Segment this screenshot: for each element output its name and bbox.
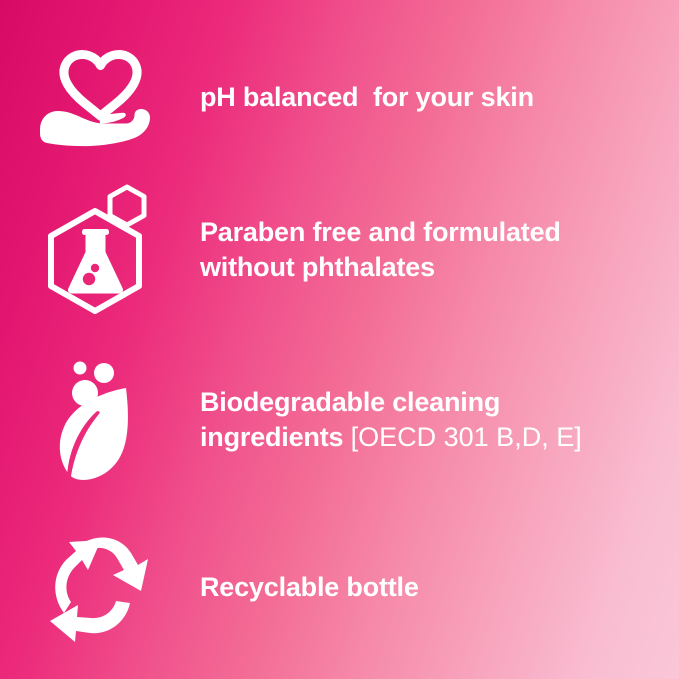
recycle-icon	[38, 529, 162, 647]
icon-cell-biodegradable	[0, 355, 200, 485]
feature-note-oecd: [OECD 301 B,D, E]	[351, 422, 582, 452]
feature-row-paraben-free: Paraben free and formulated without phth…	[0, 182, 679, 317]
text-cell-recyclable-bottle: Recyclable bottle	[200, 570, 679, 605]
feature-label-biodegradable: Biodegradable cleaning ingredients [OECD…	[200, 385, 659, 454]
flask-hexagon-icon	[38, 180, 162, 320]
text-cell-ph-balanced: pH balanced for your skin	[200, 80, 679, 115]
leaf-bubbles-icon	[38, 355, 162, 485]
icon-cell-recyclable-bottle	[0, 529, 200, 647]
product-benefits-infographic: pH balanced for your skin	[0, 0, 679, 679]
text-cell-paraben-free: Paraben free and formulated without phth…	[200, 215, 679, 284]
feature-label-paraben-free: Paraben free and formulated without phth…	[200, 215, 659, 284]
feature-label-ph-balanced: pH balanced for your skin	[200, 80, 659, 115]
feature-row-biodegradable: Biodegradable cleaning ingredients [OECD…	[0, 352, 679, 487]
text-cell-biodegradable: Biodegradable cleaning ingredients [OECD…	[200, 385, 679, 454]
icon-cell-paraben-free	[0, 180, 200, 320]
feature-row-recyclable-bottle: Recyclable bottle	[0, 525, 679, 650]
icon-cell-ph-balanced	[0, 45, 200, 149]
feature-row-ph-balanced: pH balanced for your skin	[0, 42, 679, 152]
feature-label-recyclable-bottle: Recyclable bottle	[200, 570, 659, 605]
hand-heart-icon	[38, 45, 162, 149]
